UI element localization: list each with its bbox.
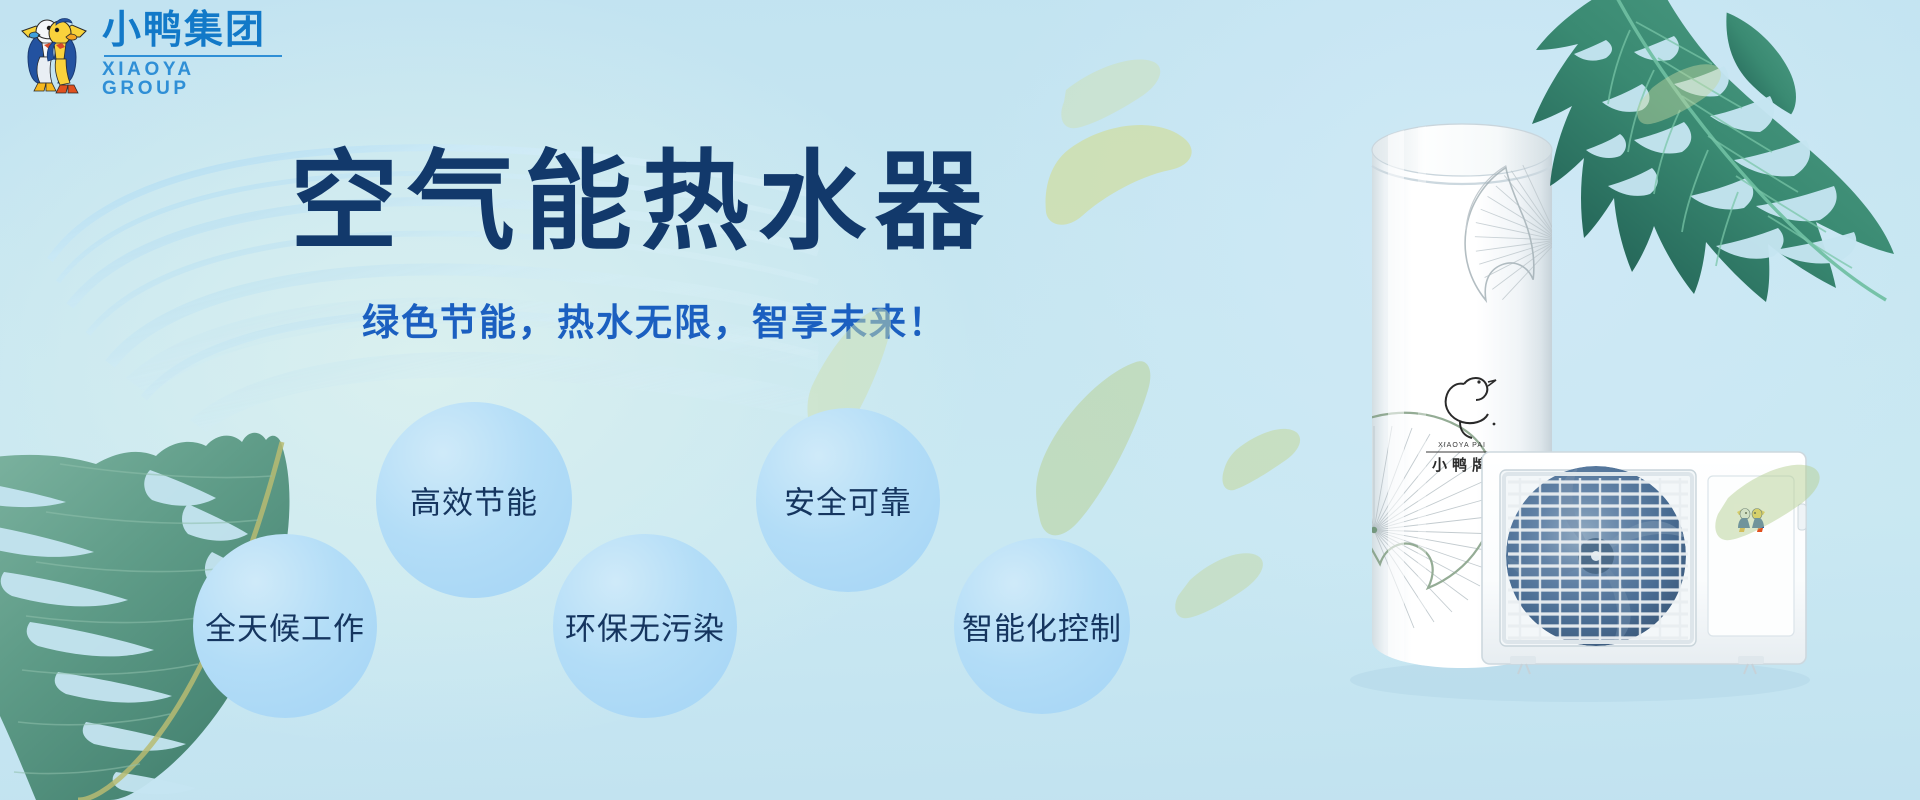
feature-bubble-label: 环保无污染 [565,604,725,649]
feature-bubble-label: 全天候工作 [205,604,365,649]
feature-bubble-label: 高效节能 [410,478,538,523]
promo-banner: 小鸭集团 XIAOYA GROUP 空气能热水器 绿色节能，热水无限，智享未来！… [0,0,1920,800]
feature-bubble-group: 高效节能安全可靠全天候工作环保无污染智能化控制 [0,0,1920,800]
feature-bubble-label: 智能化控制 [962,604,1122,649]
feature-bubble-label: 安全可靠 [784,478,912,523]
